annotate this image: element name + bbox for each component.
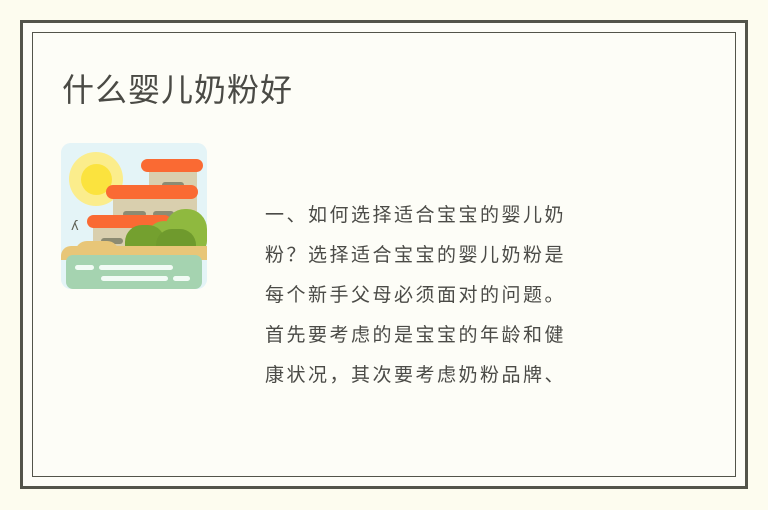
foreground-line-4 (173, 276, 190, 281)
foreground-line-2 (99, 265, 173, 270)
outer-frame-border: 什么婴儿奶粉好 (20, 20, 748, 489)
body-line: 一、如何选择适合宝宝的婴儿奶 (265, 195, 685, 235)
bird-icon: ʎ (71, 221, 87, 232)
house-back-roof (141, 159, 203, 172)
article-body: 一、如何选择适合宝宝的婴儿奶 粉？选择适合宝宝的婴儿奶粉是 每个新手父母必须面对… (265, 195, 685, 395)
body-line: 康状况，其次要考虑奶粉品牌、 (265, 355, 685, 395)
page-root: 什么婴儿奶粉好 (0, 0, 768, 510)
page-title: 什么婴儿奶粉好 (62, 70, 293, 110)
village-houses-illustration: ʎ (61, 143, 207, 289)
foreground-line-3 (101, 276, 168, 281)
body-line: 首先要考虑的是宝宝的年龄和健 (265, 315, 685, 355)
foreground-card (66, 255, 202, 289)
body-line: 每个新手父母必须面对的问题。 (265, 275, 685, 315)
article-content: 什么婴儿奶粉好 (33, 33, 735, 476)
inner-frame-border: 什么婴儿奶粉好 (32, 32, 736, 477)
body-line: 粉？选择适合宝宝的婴儿奶粉是 (265, 235, 685, 275)
foreground-line-1 (75, 265, 94, 270)
house-middle-roof (106, 185, 198, 199)
